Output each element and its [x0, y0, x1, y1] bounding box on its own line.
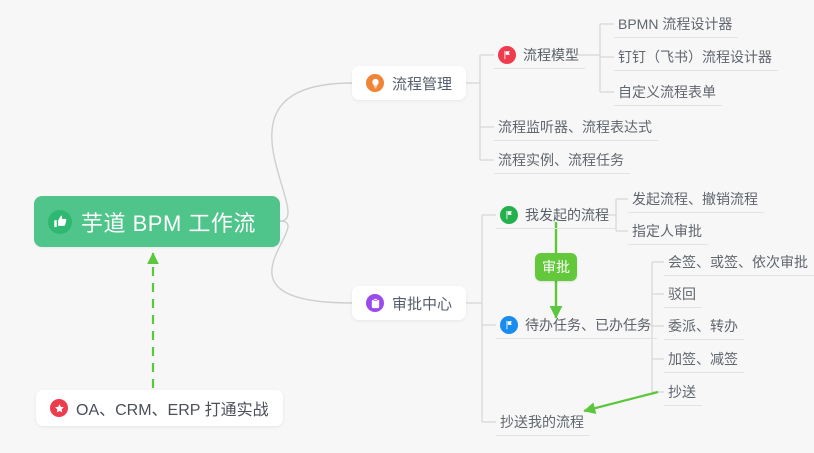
thumbs-up-icon	[48, 210, 72, 234]
leaf-countersign-modes[interactable]: 会签、或签、依次审批	[664, 248, 814, 276]
leaf-cc-to-me[interactable]: 抄送我的流程	[496, 408, 590, 436]
mindmap-canvas: 芋道 BPM 工作流 OA、CRM、ERP 打通实战 流程管理 流程模型 BPM…	[0, 0, 814, 453]
leaf-bpmn-designer[interactable]: BPMN 流程设计器	[614, 10, 738, 38]
node-todo-done-tasks[interactable]: 待办任务、已办任务	[496, 311, 657, 339]
leaf-process-listener[interactable]: 流程监听器、流程表达式	[494, 113, 658, 141]
approval-chip-label: 审批	[542, 257, 570, 277]
leaf-start-cancel-process-label: 发起流程、撤销流程	[632, 189, 758, 209]
leaf-countersign-modes-label: 会签、或签、依次审批	[668, 252, 808, 272]
leaf-add-remove-sign[interactable]: 加签、减签	[664, 345, 744, 373]
flag-red-icon	[498, 46, 516, 64]
branch-approval-center-label: 审批中心	[392, 293, 452, 314]
leaf-cc-to-me-label: 抄送我的流程	[500, 412, 584, 432]
leaf-process-instance[interactable]: 流程实例、流程任务	[494, 146, 630, 174]
arrow-cc-flow	[584, 392, 658, 411]
branch-process-management[interactable]: 流程管理	[352, 66, 466, 100]
branch-approval-center[interactable]: 审批中心	[352, 286, 466, 320]
lightbulb-icon	[366, 74, 384, 92]
leaf-reject[interactable]: 驳回	[664, 280, 702, 308]
edge-root-to-approval-center	[272, 221, 352, 303]
leaf-carbon-copy[interactable]: 抄送	[664, 378, 702, 406]
leaf-delegate-transfer-label: 委派、转办	[668, 316, 738, 336]
root-node-label: 芋道 BPM 工作流	[81, 206, 256, 238]
branch-process-management-label: 流程管理	[392, 73, 452, 94]
corner-note-label: OA、CRM、ERP 打通实战	[76, 396, 269, 420]
leaf-add-remove-sign-label: 加签、减签	[668, 349, 738, 369]
node-my-started-process-label: 我发起的流程	[525, 205, 609, 225]
root-node[interactable]: 芋道 BPM 工作流	[34, 196, 280, 247]
corner-note[interactable]: OA、CRM、ERP 打通实战	[36, 390, 283, 426]
clipboard-icon	[366, 294, 384, 312]
leaf-custom-form-label: 自定义流程表单	[618, 82, 716, 102]
leaf-reject-label: 驳回	[668, 284, 696, 304]
leaf-dingtalk-designer[interactable]: 钉钉（飞书）流程设计器	[614, 43, 778, 71]
node-todo-done-tasks-label: 待办任务、已办任务	[525, 315, 651, 335]
leaf-bpmn-designer-label: BPMN 流程设计器	[618, 14, 732, 34]
leaf-carbon-copy-label: 抄送	[668, 382, 696, 402]
leaf-start-cancel-process[interactable]: 发起流程、撤销流程	[628, 185, 764, 213]
leaf-dingtalk-designer-label: 钉钉（飞书）流程设计器	[618, 47, 772, 67]
approval-chip[interactable]: 审批	[535, 253, 577, 281]
leaf-process-listener-label: 流程监听器、流程表达式	[498, 117, 652, 137]
leaf-custom-form[interactable]: 自定义流程表单	[614, 78, 722, 106]
edge-root-to-process-management	[272, 83, 352, 221]
node-process-model[interactable]: 流程模型	[494, 41, 585, 69]
node-process-model-label: 流程模型	[523, 45, 579, 65]
star-icon	[50, 399, 68, 417]
leaf-assigned-approval-label: 指定人审批	[632, 221, 702, 241]
flag-green-icon	[500, 206, 518, 224]
node-my-started-process[interactable]: 我发起的流程	[496, 201, 615, 229]
leaf-assigned-approval[interactable]: 指定人审批	[628, 217, 708, 245]
flag-blue-icon	[500, 316, 518, 334]
leaf-process-instance-label: 流程实例、流程任务	[498, 150, 624, 170]
leaf-delegate-transfer[interactable]: 委派、转办	[664, 312, 744, 340]
